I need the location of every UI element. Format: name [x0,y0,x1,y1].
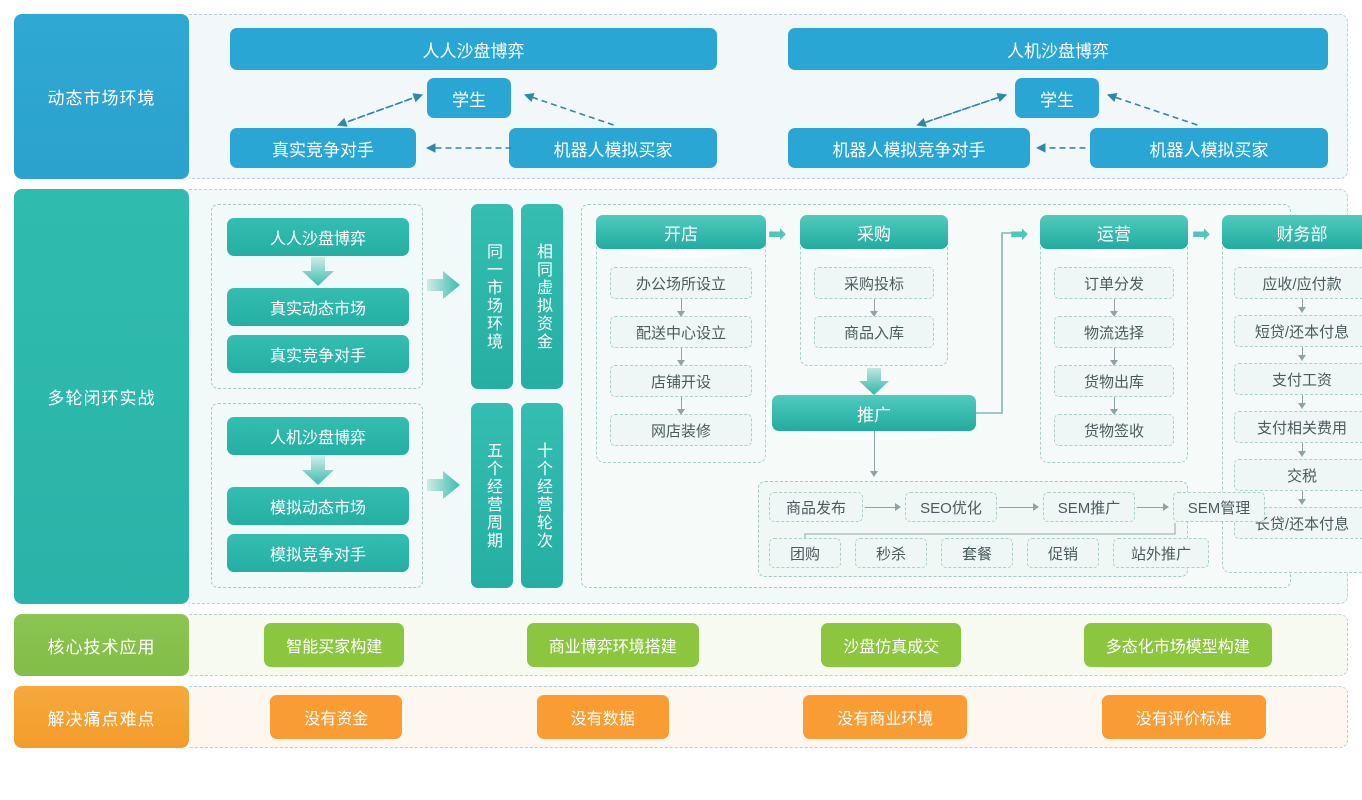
workflow-col-2-item-3[interactable]: 货物签收 [1054,414,1174,446]
diagram-root: 动态市场环境 人人沙盘博弈 学生 真实竞争对手 机器人模拟买家 [0,0,1362,800]
promo-tactic-2[interactable]: 套餐 [941,538,1013,568]
workflow-col-2-item-1[interactable]: 物流选择 [1054,316,1174,348]
pain-item-3[interactable]: 没有评价标准 [1102,695,1266,739]
workflow-col-3-item-4[interactable]: 交税 [1234,459,1362,491]
band-body-pain-points: 没有资金 没有数据 没有商业环境 没有评价标准 [189,686,1348,748]
promo-tactic-3[interactable]: 促销 [1027,538,1099,568]
loop-p2m-down-arrow-icon [300,456,336,486]
band-label-pain-points: 解决痛点难点 [14,686,189,748]
loop-p2p-item-1[interactable]: 真实动态市场 [227,288,409,326]
loop-p2p-item-0[interactable]: 人人沙盘博弈 [227,218,409,256]
workflow-arrow-2-3-icon: ➡ [1192,223,1210,245]
pain-item-0[interactable]: 没有资金 [270,695,402,739]
loop-vertical-box-2[interactable]: 五个经营周期 [471,403,513,588]
core-tech-item-3[interactable]: 多态化市场模型构建 [1084,623,1272,667]
loop-vertical-box-1[interactable]: 相同虚拟资金 [521,204,563,389]
band-pain-points: 解决痛点难点 没有资金 没有数据 没有商业环境 没有评价标准 [14,686,1348,748]
p2p-connectors [189,15,768,180]
core-tech-item-2[interactable]: 沙盘仿真成交 [821,623,961,667]
workflow-promo-to-ops-connector [974,223,1024,423]
pain-item-1[interactable]: 没有数据 [537,695,669,739]
workflow-panel: 开店 办公场所设立 配送中心设立 店铺开设 网店装修 ➡ 采购 采购投标 商品入… [581,204,1291,588]
band-label-dynamic-market: 动态市场环境 [14,14,189,179]
workflow-col-1-item-1[interactable]: 商品入库 [814,316,934,348]
promo-tactic-4[interactable]: 站外推广 [1113,538,1209,568]
band-label-multi-round: 多轮闭环实战 [14,189,189,604]
workflow-arrow-purchase-to-promo-icon [857,368,891,396]
workflow-col-0-item-0[interactable]: 办公场所设立 [610,267,752,299]
promotion-panel: 商品发布 SEO优化 SEM推广 SEM管理 团购 [758,481,1188,577]
band-core-tech: 核心技术应用 智能买家构建 商业博弈环境搭建 沙盘仿真成交 多态化市场模型构建 [14,614,1348,676]
workflow-col-2-item-2[interactable]: 货物出库 [1054,365,1174,397]
workflow-col-head-3[interactable]: 财务部 [1222,215,1362,249]
band-body-dynamic-market: 人人沙盘博弈 学生 真实竞争对手 机器人模拟买家 [189,14,1348,179]
loop-arrow-right-bottom-icon [427,470,461,500]
workflow-col-3-item-2[interactable]: 支付工资 [1234,363,1362,395]
core-tech-item-0[interactable]: 智能买家构建 [264,623,404,667]
market-group-p2p: 人人沙盘博弈 学生 真实竞争对手 机器人模拟买家 [189,15,768,178]
band-body-multi-round: 人人沙盘博弈 真实动态市场 真实竞争对手 人机沙盘博弈 [189,189,1348,604]
workflow-arrow-0-1-icon: ➡ [768,223,786,245]
workflow-promotion-head[interactable]: 推广 [772,395,976,431]
workflow-col-head-1[interactable]: 采购 [800,215,948,249]
loop-p2m-item-1[interactable]: 模拟动态市场 [227,487,409,525]
loop-vertical-box-0[interactable]: 同一市场环境 [471,204,513,389]
loop-arrow-right-top-icon [427,270,461,300]
workflow-col-2-item-0[interactable]: 订单分发 [1054,267,1174,299]
band-dynamic-market: 动态市场环境 人人沙盘博弈 学生 真实竞争对手 机器人模拟买家 [14,14,1348,179]
loop-group-p2p: 人人沙盘博弈 真实动态市场 真实竞争对手 [211,204,423,389]
workflow-col-0-item-3[interactable]: 网店装修 [610,414,752,446]
workflow-col-head-0[interactable]: 开店 [596,215,766,249]
workflow-col-1-item-0[interactable]: 采购投标 [814,267,934,299]
loop-group-p2m: 人机沙盘博弈 模拟动态市场 模拟竞争对手 [211,403,423,588]
loop-p2p-item-2[interactable]: 真实竞争对手 [227,335,409,373]
promo-tactic-1[interactable]: 秒杀 [855,538,927,568]
workflow-col-3-item-1[interactable]: 短贷/还本付息 [1234,315,1362,347]
workflow-col-3-item-0[interactable]: 应收/应付款 [1234,267,1362,299]
core-tech-item-1[interactable]: 商业博弈环境搭建 [527,623,699,667]
workflow-col-3-item-3[interactable]: 支付相关费用 [1234,411,1362,443]
p2m-connectors [768,15,1347,180]
workflow-arrow-1-2-icon: ➡ [1010,223,1028,245]
promo-tactic-0[interactable]: 团购 [769,538,841,568]
workflow-col-0-item-2[interactable]: 店铺开设 [610,365,752,397]
loop-p2p-down-arrow-icon [300,257,336,287]
workflow-col-head-2[interactable]: 运营 [1040,215,1188,249]
pain-item-2[interactable]: 没有商业环境 [803,695,967,739]
band-multi-round: 多轮闭环实战 人人沙盘博弈 真实动态市场 真实竞争对手 人机沙盘博弈 [14,189,1348,604]
loop-p2m-item-0[interactable]: 人机沙盘博弈 [227,417,409,455]
workflow-col-0-item-1[interactable]: 配送中心设立 [610,316,752,348]
loop-vertical-box-3[interactable]: 十个经营轮次 [521,403,563,588]
band-label-core-tech: 核心技术应用 [14,614,189,676]
loop-p2m-item-2[interactable]: 模拟竞争对手 [227,534,409,572]
band-body-core-tech: 智能买家构建 商业博弈环境搭建 沙盘仿真成交 多态化市场模型构建 [189,614,1348,676]
market-group-p2m: 人机沙盘博弈 学生 机器人模拟竞争对手 机器人模拟买家 [768,15,1347,178]
